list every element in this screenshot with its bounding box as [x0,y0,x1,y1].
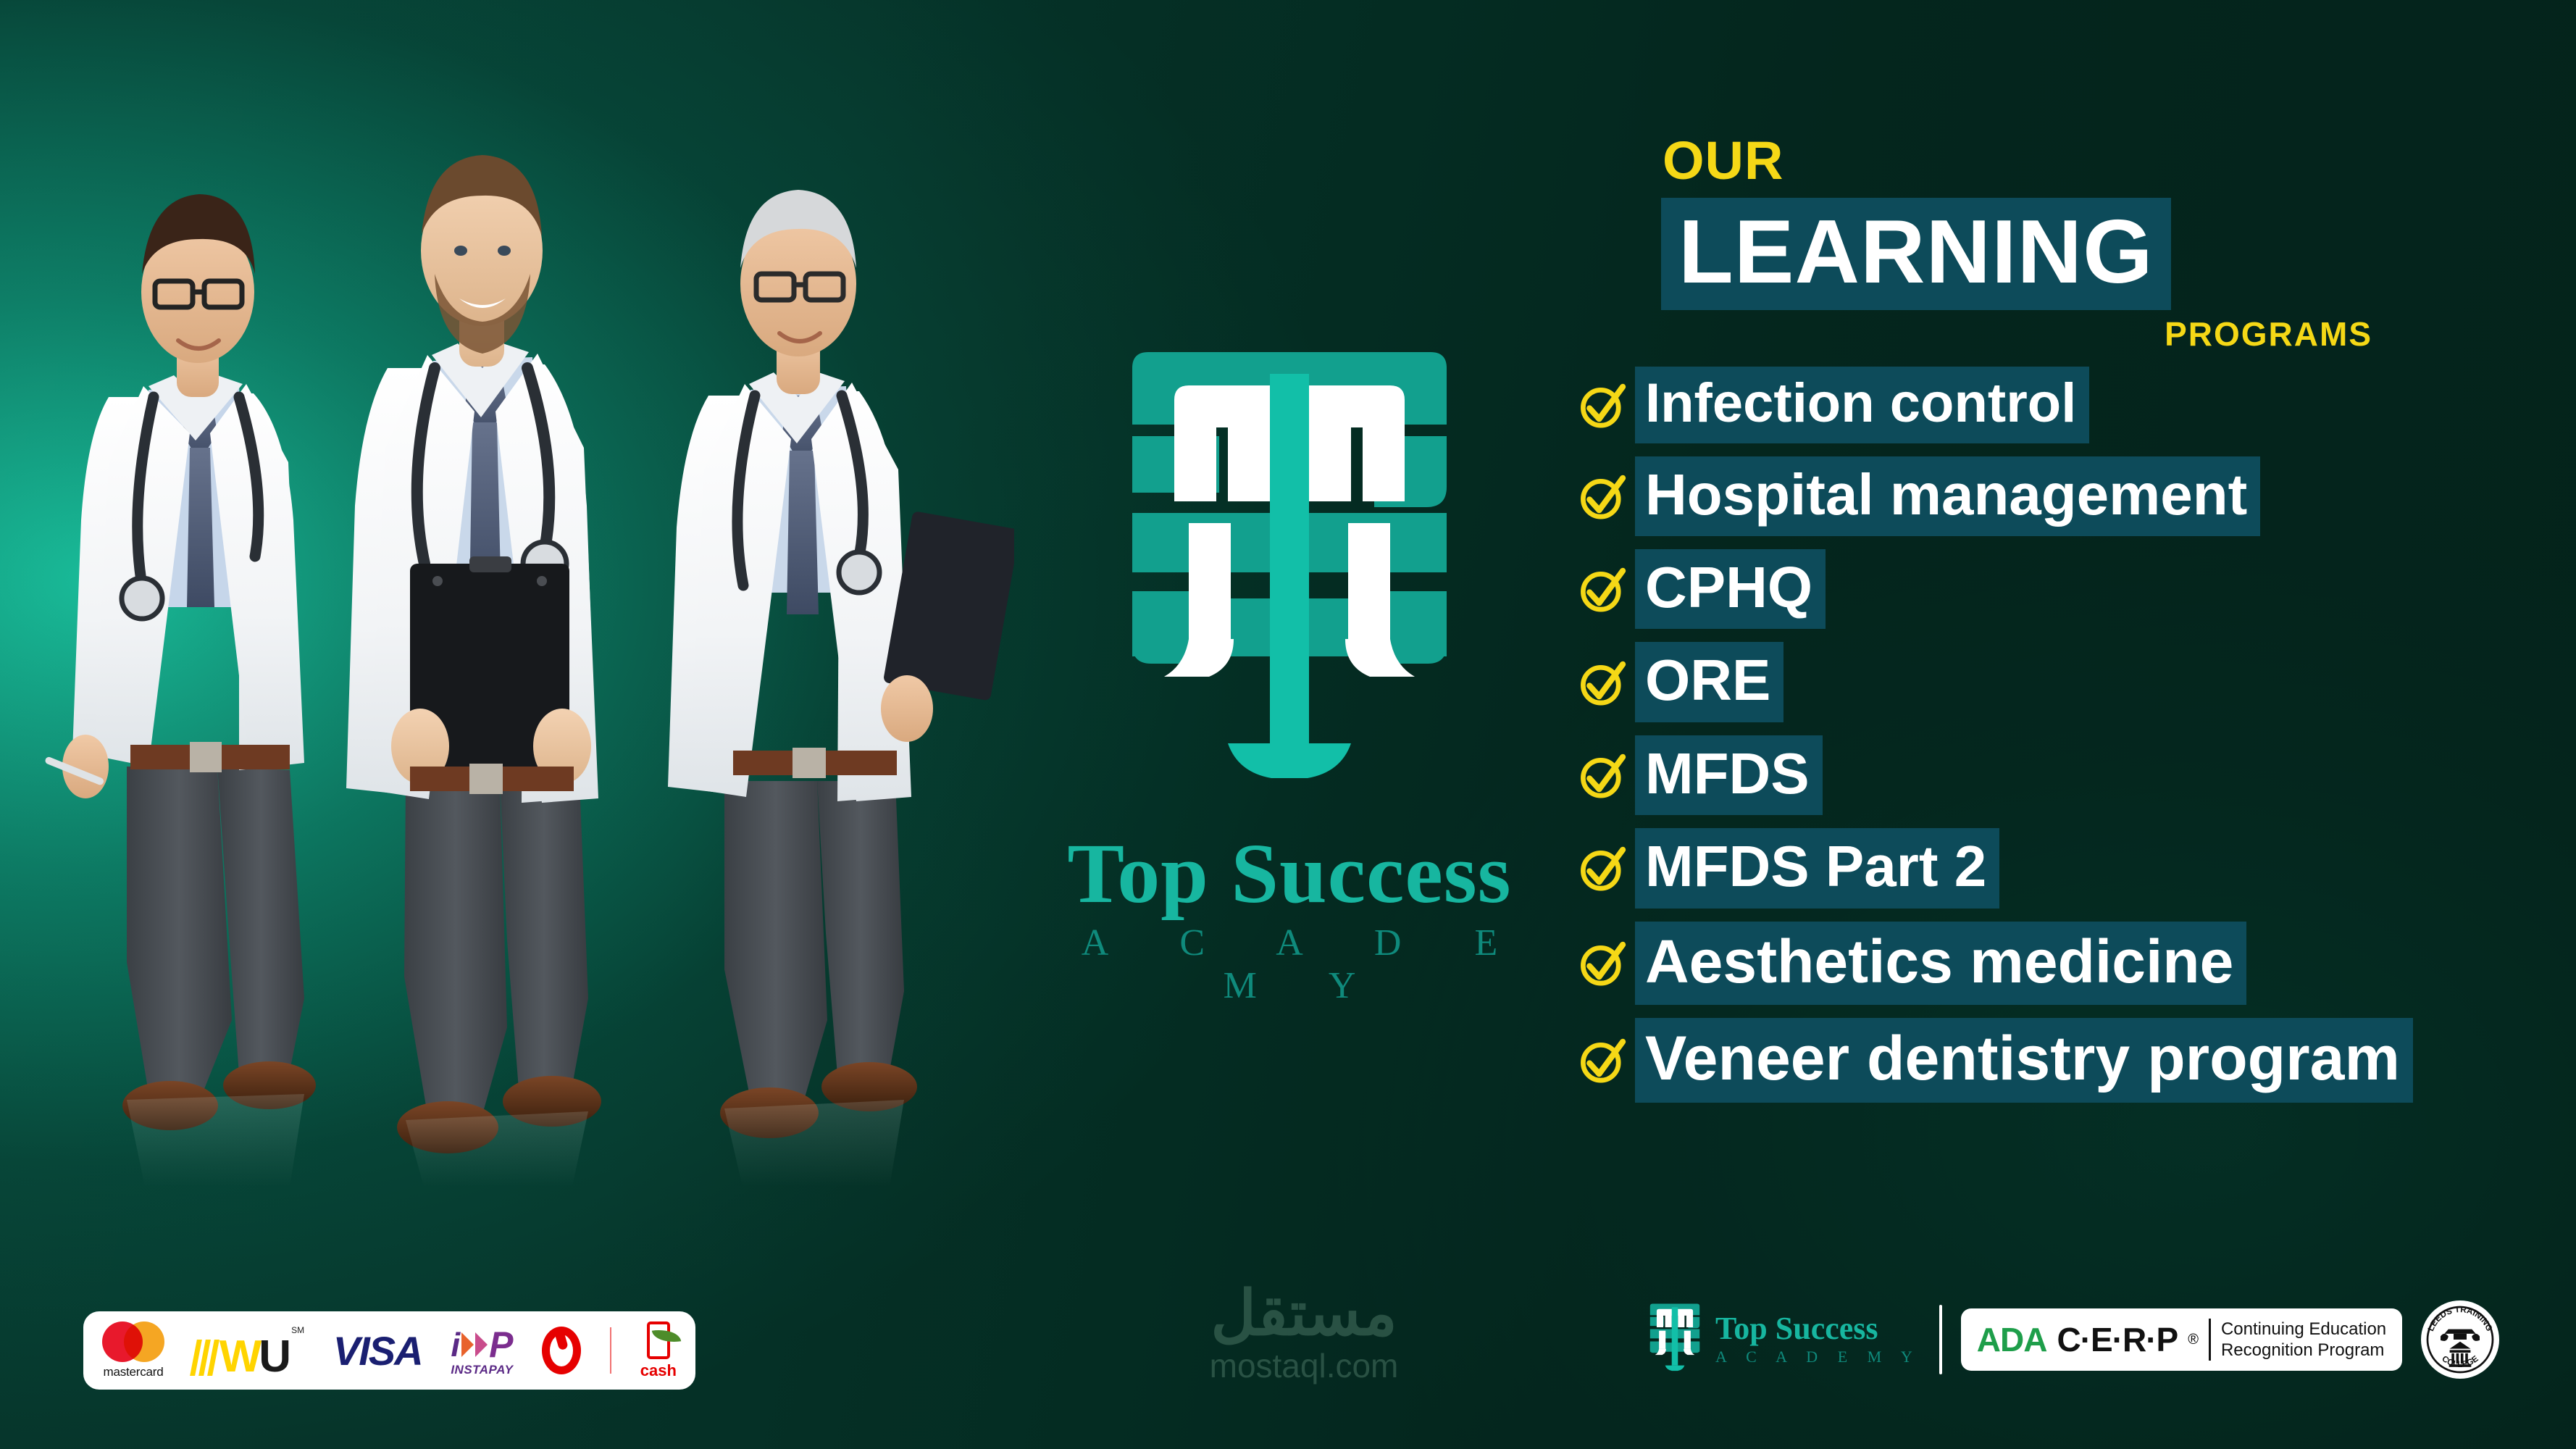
program-label: Veneer dentistry program [1635,1018,2413,1103]
doctors-illustration [0,57,1014,1187]
ada-divider [2209,1319,2211,1361]
program-label: MFDS Part 2 [1635,828,1999,908]
visa-label: VISA [333,1327,422,1374]
college-seal-icon: LEEDS TRAINING COLLEGE [2421,1300,2499,1379]
footer-brand-name: Top Success [1715,1313,1920,1345]
watermark-arabic: مستقل [1116,1282,1492,1345]
program-item[interactable]: Infection control [1576,367,2576,443]
program-item[interactable]: Hospital management [1576,456,2576,536]
brand-name: Top Success [1014,830,1565,917]
instapay-mark-icon: i P [451,1324,513,1366]
programs-list: Infection controlHospital managementCPHQ… [1576,367,2576,1103]
check-circle-icon [1576,936,1629,990]
leeds-training-college-seal: LEEDS TRAINING COLLEGE [2421,1300,2499,1379]
ada-program: C·E·R·P [2057,1320,2178,1359]
accreditations-bar: Top Success A C A D E M Y ADA C·E·R·P ® … [1644,1300,2499,1379]
western-union-w: W [219,1339,259,1376]
watermark-latin: mostaql.com [1116,1348,1492,1385]
footer-brand-logo: Top Success A C A D E M Y [1644,1302,1920,1377]
doctor-senior [668,190,1014,1138]
check-circle-icon [1576,748,1629,802]
poster-canvas: Top Success A C A D E M Y OUR LEARNING P… [0,0,2576,1449]
instapay-label: INSTAPAY [451,1363,513,1377]
programs-panel: OUR LEARNING PROGRAMS Infection controlH… [1576,134,2576,1116]
payment-mastercard: mastercard [102,1321,164,1379]
top-success-monogram-icon-small [1644,1302,1705,1377]
top-success-monogram-icon [1119,341,1460,819]
registered-mark-icon: ® [2188,1332,2199,1348]
brand-logo-block: Top Success A C A D E M Y [1014,341,1565,1007]
program-label: Aesthetics medicine [1635,922,2246,1005]
mastercard-label: mastercard [103,1365,163,1379]
check-circle-icon [1576,378,1629,432]
payment-instapay: i P INSTAPAY [451,1324,513,1377]
ada-description: Continuing Education Recognition Program [2221,1319,2386,1361]
program-label: Infection control [1635,367,2089,443]
doctor-young [44,194,316,1130]
check-circle-icon [1576,562,1629,616]
program-label: MFDS [1635,735,1823,815]
vodafone-cash-leaf-icon [652,1327,681,1345]
program-item[interactable]: ORE [1576,642,2576,722]
brand-subtitle: A C A D E M Y [1014,922,1565,1007]
program-label: Hospital management [1635,456,2260,536]
check-circle-icon [1576,841,1629,895]
check-circle-icon [1576,656,1629,709]
check-circle-icon [1576,936,1629,990]
program-item[interactable]: MFDS Part 2 [1576,828,2576,908]
mostaql-watermark: مستقل mostaql.com [1116,1282,1492,1385]
footer-divider [610,1327,611,1374]
check-circle-icon [1576,1033,1629,1087]
check-circle-icon [1576,748,1629,802]
ada-desc-line2: Recognition Program [2221,1340,2384,1360]
ada-desc-line1: Continuing Education [2221,1319,2386,1339]
program-item[interactable]: MFDS [1576,735,2576,815]
check-circle-icon [1576,469,1629,523]
payment-vodafone-cash: cash [640,1321,677,1380]
western-union-u: U [259,1339,290,1376]
vodafone-cash-phone-icon [647,1321,670,1359]
check-circle-icon [1576,378,1629,432]
program-item[interactable]: CPHQ [1576,549,2576,629]
check-circle-icon [1576,1033,1629,1087]
check-circle-icon [1576,469,1629,523]
hero-doctors-image [0,57,1014,1187]
program-item[interactable]: Veneer dentistry program [1576,1018,2576,1103]
program-label: CPHQ [1635,549,1826,629]
check-circle-icon [1576,562,1629,616]
check-circle-icon [1576,656,1629,709]
header-kicker: OUR [1663,134,2576,188]
western-union-sm: SM [291,1325,304,1335]
western-union-bars-icon [193,1340,216,1376]
program-label: ORE [1635,642,1783,722]
page-title: LEARNING [1661,198,2171,310]
payment-methods-strip: mastercard W U SM VISA i P INSTAPAY cash [83,1311,695,1390]
ada-brand: ADA [1977,1320,2047,1359]
doctor-middle [346,155,601,1153]
mastercard-icon [102,1321,164,1362]
payment-western-union: W U SM [193,1325,304,1376]
footer-brand-subtitle: A C A D E M Y [1715,1348,1920,1366]
vertical-separator [1939,1305,1942,1374]
program-item[interactable]: Aesthetics medicine [1576,922,2576,1005]
vodafone-icon [542,1327,581,1374]
header-kicker-secondary: PROGRAMS [1576,314,2372,354]
ada-cerp-badge: ADA C·E·R·P ® Continuing Education Recog… [1961,1308,2402,1371]
check-circle-icon [1576,841,1629,895]
vodafone-cash-label: cash [640,1361,677,1380]
